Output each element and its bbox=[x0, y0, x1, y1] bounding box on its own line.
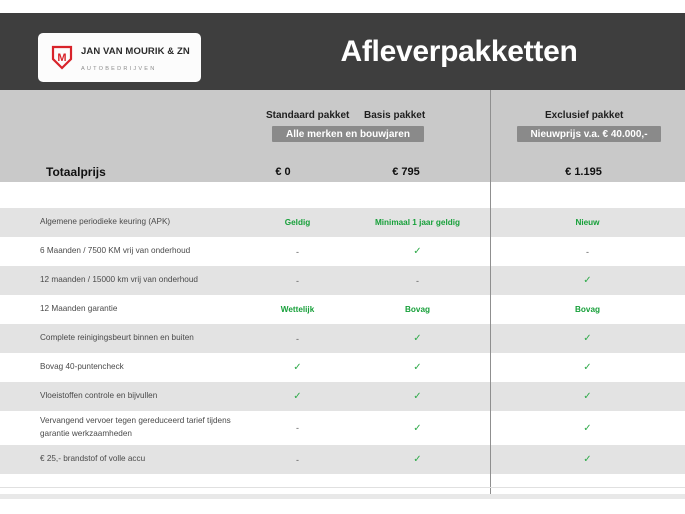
feature-label: Algemene periodieke keuring (APK) bbox=[0, 216, 250, 229]
feature-value-standaard: Geldig bbox=[250, 218, 345, 227]
feature-label: Complete reinigingsbeurt binnen en buite… bbox=[0, 332, 250, 345]
feature-table: Algemene periodieke keuring (APK)GeldigM… bbox=[0, 182, 685, 498]
shield-monogram-icon: M bbox=[51, 45, 73, 70]
table-row: 12 Maanden garantieWettelijkBovagBovag bbox=[0, 295, 685, 324]
feature-value-standaard: - bbox=[250, 247, 345, 257]
feature-label: Vloeistoffen controle en bijvullen bbox=[0, 390, 250, 403]
feature-value-exclusief: ✓ bbox=[490, 333, 685, 344]
column-header-basis: Basis pakket bbox=[364, 110, 425, 121]
table-row: Vloeistoffen controle en bijvullen✓✓✓ bbox=[0, 382, 685, 411]
feature-value-exclusief: ✓ bbox=[490, 423, 685, 434]
feature-value-standaard: ✓ bbox=[250, 362, 345, 373]
table-row: € 25,- brandstof of volle accu-✓✓ bbox=[0, 445, 685, 474]
feature-value-basis: Minimaal 1 jaar geldig bbox=[345, 218, 490, 227]
total-price-basis: € 795 bbox=[376, 166, 436, 178]
logo-wordmark: JAN VAN MOURIK & ZN AUTOBEDRIJVEN bbox=[81, 42, 201, 74]
price-comparison-sheet: M JAN VAN MOURIK & ZN AUTOBEDRIJVEN Afle… bbox=[0, 0, 685, 514]
table-row: Vervangend vervoer tegen gereduceerd tar… bbox=[0, 411, 685, 445]
feature-label: Bovag 40-puntencheck bbox=[0, 361, 250, 374]
column-header-exclusief: Exclusief pakket bbox=[545, 110, 623, 121]
table-row: 12 maanden / 15000 km vrij van onderhoud… bbox=[0, 266, 685, 295]
column-header-standaard: Standaard pakket bbox=[266, 110, 349, 121]
feature-value-basis: ✓ bbox=[345, 423, 490, 434]
feature-value-exclusief: ✓ bbox=[490, 391, 685, 402]
feature-label: 6 Maanden / 7500 KM vrij van onderhoud bbox=[0, 245, 250, 258]
total-price-exclusief: € 1.195 bbox=[551, 166, 616, 178]
feature-value-basis: ✓ bbox=[345, 246, 490, 257]
table-row: 6 Maanden / 7500 KM vrij van onderhoud-✓… bbox=[0, 237, 685, 266]
table-bottom-rule bbox=[0, 487, 685, 488]
feature-value-standaard: ✓ bbox=[250, 391, 345, 402]
feature-label: 12 maanden / 15000 km vrij van onderhoud bbox=[0, 274, 250, 287]
feature-label: € 25,- brandstof of volle accu bbox=[0, 453, 250, 466]
company-logo: M JAN VAN MOURIK & ZN AUTOBEDRIJVEN bbox=[38, 33, 201, 82]
badge-alle-merken: Alle merken en bouwjaren bbox=[272, 126, 424, 142]
feature-value-exclusief: Bovag bbox=[490, 305, 685, 314]
feature-value-exclusief: ✓ bbox=[490, 454, 685, 465]
badge-nieuwprijs: Nieuwprijs v.a. € 40.000,- bbox=[517, 126, 661, 142]
feature-value-exclusief: - bbox=[490, 247, 685, 257]
feature-value-basis: ✓ bbox=[345, 333, 490, 344]
feature-value-standaard: - bbox=[250, 334, 345, 344]
logo-tagline: AUTOBEDRIJVEN bbox=[81, 66, 156, 72]
feature-value-exclusief: ✓ bbox=[490, 275, 685, 286]
feature-value-standaard: Wettelijk bbox=[250, 305, 345, 314]
table-row: Bovag 40-puntencheck✓✓✓ bbox=[0, 353, 685, 382]
feature-value-basis: - bbox=[345, 276, 490, 286]
svg-text:M: M bbox=[57, 52, 66, 64]
feature-value-basis: Bovag bbox=[345, 305, 490, 314]
exclusief-column-divider bbox=[490, 90, 491, 498]
page-bottom-strip bbox=[0, 494, 685, 499]
feature-value-basis: ✓ bbox=[345, 362, 490, 373]
feature-value-standaard: - bbox=[250, 276, 345, 286]
feature-label: 12 Maanden garantie bbox=[0, 303, 250, 316]
feature-value-exclusief: Nieuw bbox=[490, 218, 685, 227]
logo-company-name: JAN VAN MOURIK & ZN bbox=[81, 46, 190, 57]
total-price-standaard: € 0 bbox=[258, 166, 308, 178]
page-title: Afleverpakketten bbox=[233, 13, 685, 90]
feature-value-standaard: - bbox=[250, 455, 345, 465]
total-price-label: Totaalprijs bbox=[46, 165, 106, 179]
table-top-spacer bbox=[0, 182, 685, 208]
feature-value-basis: ✓ bbox=[345, 454, 490, 465]
feature-value-exclusief: ✓ bbox=[490, 362, 685, 373]
table-row: Complete reinigingsbeurt binnen en buite… bbox=[0, 324, 685, 353]
feature-value-standaard: - bbox=[250, 423, 345, 433]
feature-label: Vervangend vervoer tegen gereduceerd tar… bbox=[0, 415, 250, 440]
feature-value-basis: ✓ bbox=[345, 391, 490, 402]
table-row: Algemene periodieke keuring (APK)GeldigM… bbox=[0, 208, 685, 237]
